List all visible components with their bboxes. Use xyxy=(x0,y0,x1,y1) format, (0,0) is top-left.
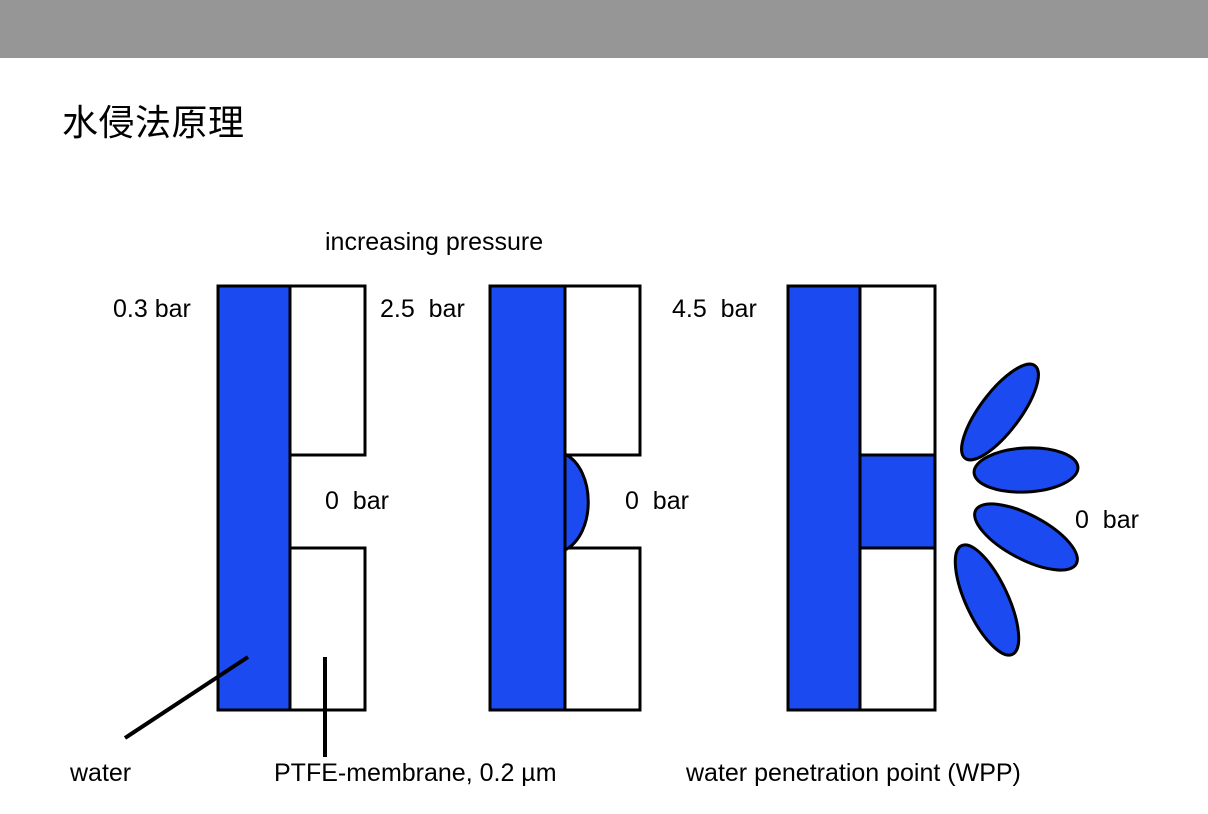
panel-2-membrane-lower xyxy=(565,548,640,710)
panel-2-group xyxy=(490,286,640,710)
panel-2-meniscus xyxy=(565,454,588,550)
panel-3-membrane-lower xyxy=(860,548,935,710)
slide-canvas: 水侵法原理 xyxy=(0,0,1208,814)
panel-3-pore-filled xyxy=(860,455,935,548)
panel-1-upstream-pressure-label: 0.3 bar xyxy=(113,294,191,324)
water-callout-label: water xyxy=(70,758,131,788)
panel-1-downstream-pressure-top-label: 2.5 bar xyxy=(380,294,465,324)
panel-2-membrane-upper xyxy=(565,286,640,455)
panel-2-downstream-pressure-top-label: 4.5 bar xyxy=(672,294,757,324)
panel-3-downstream-pressure-mid-label: 0 bar xyxy=(1075,505,1139,535)
panel-1-downstream-pressure-mid-label: 0 bar xyxy=(325,486,389,516)
panel-1-water-column xyxy=(218,286,290,710)
top-gray-band xyxy=(0,0,1208,58)
membrane-callout-label: PTFE-membrane, 0.2 µm xyxy=(274,758,557,788)
panel-3-water-column xyxy=(788,286,860,710)
panel-1-membrane-lower xyxy=(290,548,365,710)
increasing-pressure-heading: increasing pressure xyxy=(325,227,543,257)
panel-1-membrane-upper xyxy=(290,286,365,455)
panel-3-group xyxy=(788,286,1087,710)
panel-3-membrane-upper xyxy=(860,286,935,455)
panel-2-water-column xyxy=(490,286,565,710)
page-title: 水侵法原理 xyxy=(62,101,245,145)
panel-2-downstream-pressure-mid-label: 0 bar xyxy=(625,486,689,516)
wpp-callout-label: water penetration point (WPP) xyxy=(686,758,1021,788)
